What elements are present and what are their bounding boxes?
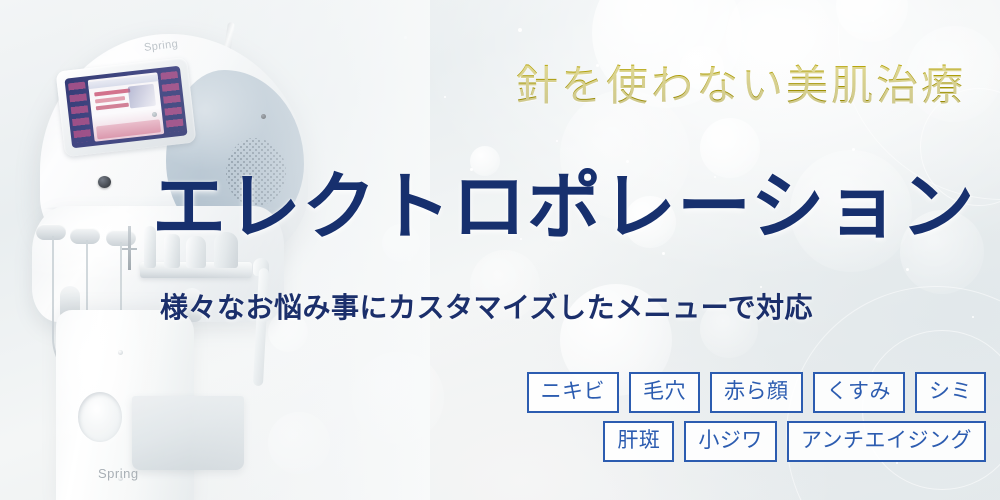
tag-dullness[interactable]: くすみ [813,372,906,413]
banner-kicker: 針を使わない美肌治療 [516,52,966,113]
page-title: エレクトロポレーション [152,170,976,244]
tag-anti-aging[interactable]: アンチエイジング [787,421,986,462]
tag-dark-spots[interactable]: シミ [915,372,986,413]
treatment-tag-list: ニキビ 毛穴 赤ら顔 くすみ シミ 肝斑 小ジワ アンチエイジング [396,372,986,470]
promo-banner: Spring Spring 針を使わない美肌治療 エレクトロポレーショ [0,0,1000,500]
tag-facial-redness[interactable]: 赤ら顔 [710,372,803,413]
tag-row-2: 肝斑 小ジワ アンチエイジング [396,421,986,462]
tag-pores[interactable]: 毛穴 [629,372,700,413]
banner-subtitle: 様々なお悩み事にカスタマイズしたメニューで対応 [160,286,813,326]
tag-melasma[interactable]: 肝斑 [603,421,674,462]
tag-row-1: ニキビ 毛穴 赤ら顔 くすみ シミ [396,372,986,413]
tag-fine-wrinkles[interactable]: 小ジワ [684,421,777,462]
tag-acne[interactable]: ニキビ [527,372,620,413]
